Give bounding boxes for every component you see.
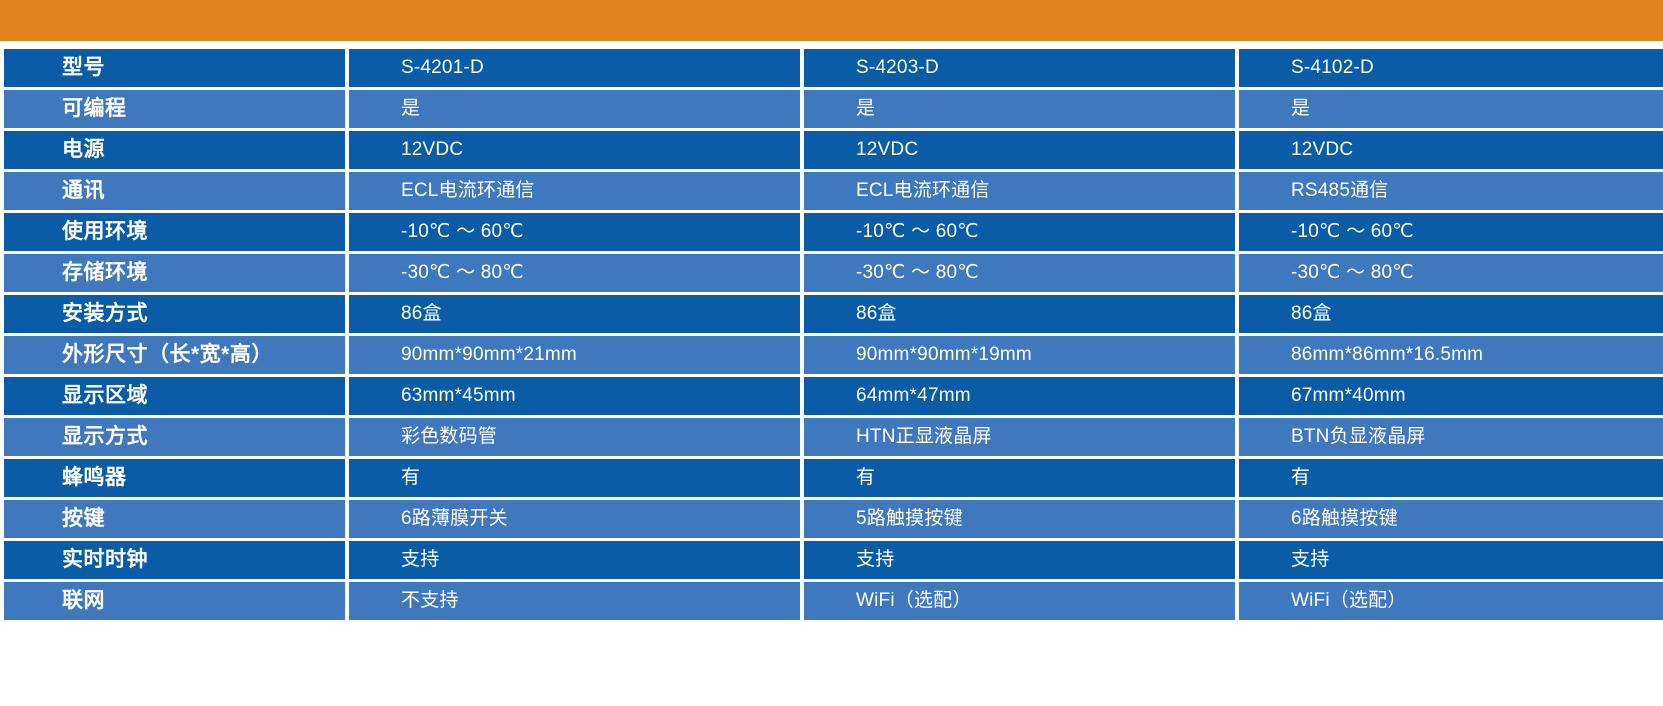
spec-value-col3: 6路触摸按键 — [1239, 500, 1663, 538]
spec-label: 外形尺寸（长*宽*高） — [4, 336, 345, 374]
spec-value-col3: WiFi（选配） — [1239, 582, 1663, 620]
spec-value-col2: 90mm*90mm*19mm — [804, 336, 1235, 374]
table-row: 通讯 ECL电流环通信 ECL电流环通信 RS485通信 — [4, 172, 1663, 210]
spec-value-col3: -30℃ ～ 80℃ — [1239, 254, 1663, 292]
spec-value-col1: 是 — [349, 90, 800, 128]
spec-value-col3: -10℃ ～ 60℃ — [1239, 213, 1663, 251]
spec-value-col2: 支持 — [804, 541, 1235, 579]
spec-label: 安装方式 — [4, 295, 345, 333]
spec-label: 可编程 — [4, 90, 345, 128]
spec-value-col3: RS485通信 — [1239, 172, 1663, 210]
spec-value-col2: S-4203-D — [804, 49, 1235, 87]
spec-label: 按键 — [4, 500, 345, 538]
spec-value-col1: 12VDC — [349, 131, 800, 169]
spec-value-col1: -10℃ ～ 60℃ — [349, 213, 800, 251]
table-row: 按键 6路薄膜开关 5路触摸按键 6路触摸按键 — [4, 500, 1663, 538]
spec-value-col1: 有 — [349, 459, 800, 497]
table-row: 存储环境 -30℃ ～ 80℃ -30℃ ～ 80℃ -30℃ ～ 80℃ — [4, 254, 1663, 292]
spec-value-col1: 63mm*45mm — [349, 377, 800, 415]
spec-sheet-page: 型号 S-4201-D S-4203-D S-4102-D 可编程 是 是 是 … — [0, 0, 1663, 706]
spec-value-col2: WiFi（选配） — [804, 582, 1235, 620]
spec-value-col3: BTN负显液晶屏 — [1239, 418, 1663, 456]
table-row: 实时时钟 支持 支持 支持 — [4, 541, 1663, 579]
table-row: 联网 不支持 WiFi（选配） WiFi（选配） — [4, 582, 1663, 620]
spec-label: 通讯 — [4, 172, 345, 210]
table-row: 显示方式 彩色数码管 HTN正显液晶屏 BTN负显液晶屏 — [4, 418, 1663, 456]
spec-value-col2: 是 — [804, 90, 1235, 128]
spec-value-col3: 支持 — [1239, 541, 1663, 579]
spec-label: 存储环境 — [4, 254, 345, 292]
spec-label: 显示区域 — [4, 377, 345, 415]
spec-value-col1: 支持 — [349, 541, 800, 579]
spec-value-col1: ECL电流环通信 — [349, 172, 800, 210]
spec-label: 型号 — [4, 49, 345, 87]
spec-value-col2: 64mm*47mm — [804, 377, 1235, 415]
spec-value-col2: -10℃ ～ 60℃ — [804, 213, 1235, 251]
spec-label: 显示方式 — [4, 418, 345, 456]
spec-value-col1: -30℃ ～ 80℃ — [349, 254, 800, 292]
spec-value-col2: 有 — [804, 459, 1235, 497]
table-row: 外形尺寸（长*宽*高） 90mm*90mm*21mm 90mm*90mm*19m… — [4, 336, 1663, 374]
spec-value-col3: S-4102-D — [1239, 49, 1663, 87]
product-spec-table: 型号 S-4201-D S-4203-D S-4102-D 可编程 是 是 是 … — [0, 46, 1663, 623]
spec-value-col3: 86盒 — [1239, 295, 1663, 333]
spec-value-col1: 不支持 — [349, 582, 800, 620]
spec-value-col3: 86mm*86mm*16.5mm — [1239, 336, 1663, 374]
spec-value-col2: ECL电流环通信 — [804, 172, 1235, 210]
table-row: 可编程 是 是 是 — [4, 90, 1663, 128]
spec-label: 实时时钟 — [4, 541, 345, 579]
spec-label: 使用环境 — [4, 213, 345, 251]
spec-value-col2: HTN正显液晶屏 — [804, 418, 1235, 456]
spec-value-col3: 12VDC — [1239, 131, 1663, 169]
spec-value-col2: 86盒 — [804, 295, 1235, 333]
top-orange-banner — [0, 0, 1663, 41]
spec-value-col3: 有 — [1239, 459, 1663, 497]
spec-value-col2: 12VDC — [804, 131, 1235, 169]
spec-value-col3: 是 — [1239, 90, 1663, 128]
spec-label: 蜂鸣器 — [4, 459, 345, 497]
table-row: 使用环境 -10℃ ～ 60℃ -10℃ ～ 60℃ -10℃ ～ 60℃ — [4, 213, 1663, 251]
spec-value-col1: 彩色数码管 — [349, 418, 800, 456]
spec-value-col1: 6路薄膜开关 — [349, 500, 800, 538]
spec-value-col1: S-4201-D — [349, 49, 800, 87]
table-row: 安装方式 86盒 86盒 86盒 — [4, 295, 1663, 333]
spec-value-col2: -30℃ ～ 80℃ — [804, 254, 1235, 292]
spec-value-col2: 5路触摸按键 — [804, 500, 1235, 538]
spec-table-body: 型号 S-4201-D S-4203-D S-4102-D 可编程 是 是 是 … — [4, 49, 1663, 620]
spec-value-col1: 90mm*90mm*21mm — [349, 336, 800, 374]
spec-value-col1: 86盒 — [349, 295, 800, 333]
spec-label: 联网 — [4, 582, 345, 620]
table-row: 蜂鸣器 有 有 有 — [4, 459, 1663, 497]
spec-value-col3: 67mm*40mm — [1239, 377, 1663, 415]
spec-label: 电源 — [4, 131, 345, 169]
table-row: 型号 S-4201-D S-4203-D S-4102-D — [4, 49, 1663, 87]
table-row: 显示区域 63mm*45mm 64mm*47mm 67mm*40mm — [4, 377, 1663, 415]
table-row: 电源 12VDC 12VDC 12VDC — [4, 131, 1663, 169]
